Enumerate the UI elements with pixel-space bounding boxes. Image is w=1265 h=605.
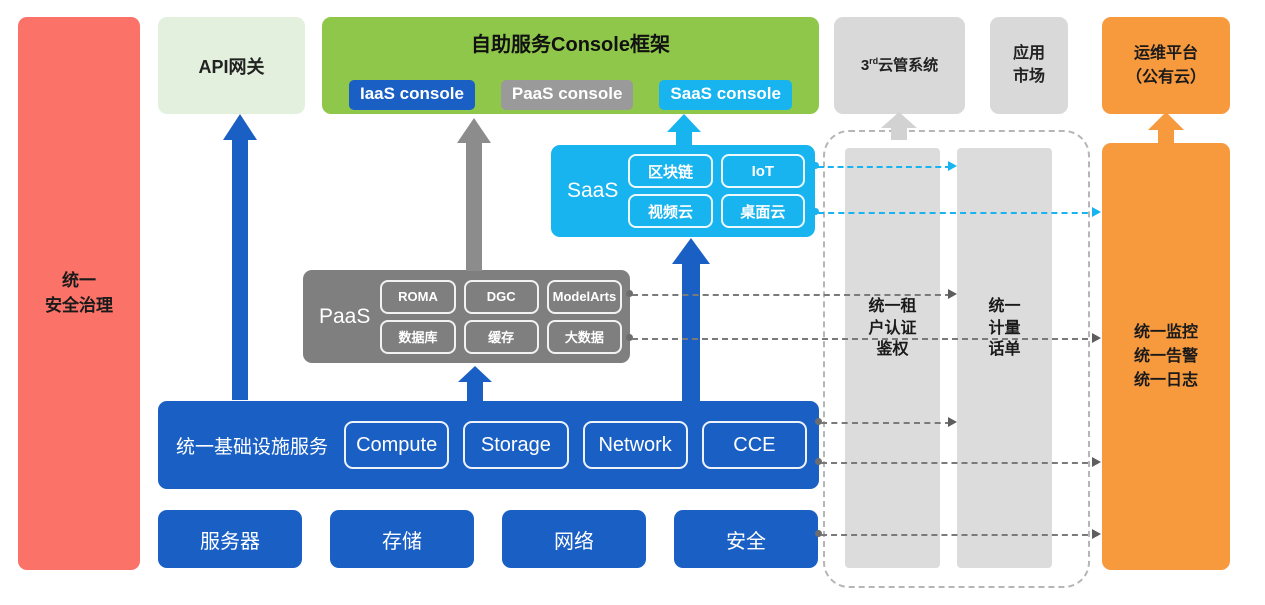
connector-arrowhead-iaas-1 [948, 417, 957, 427]
box-third-party-cloud-mgmt[interactable]: 3rd云管系统 [834, 17, 965, 114]
hardware-item-storage[interactable]: 存储 [330, 510, 474, 568]
chip-iaas-console[interactable]: IaaS console [349, 80, 475, 111]
saas-item-blockchain[interactable]: 区块链 [628, 154, 712, 188]
paas-item-dgc[interactable]: DGC [464, 280, 539, 314]
layer-saas: SaaS 区块链 IoT 视频云 桌面云 [551, 145, 815, 237]
console-chip-list: IaaS console PaaS console SaaS console [322, 79, 819, 111]
box-api-gateway-label: API网关 [198, 53, 264, 79]
paas-item-roma[interactable]: ROMA [380, 280, 455, 314]
hardware-item-security[interactable]: 安全 [674, 510, 818, 568]
iaas-service-list: Compute Storage Network CCE [334, 421, 807, 469]
layer-unified-infrastructure: 统一基础设施服务 Compute Storage Network CCE [158, 401, 819, 489]
layer-paas-label: PaaS [303, 305, 380, 329]
connector-saas-to-tenant-auth [818, 166, 951, 168]
box-self-service-console-frame: 自助服务Console框架 IaaS console PaaS console … [322, 17, 819, 114]
iaas-item-compute[interactable]: Compute [344, 421, 449, 469]
hardware-item-security-label: 安全 [726, 525, 766, 554]
box-app-market[interactable]: 应用市场 [990, 17, 1068, 114]
column-unified-tenant-auth-label: 统一租户认证鉴权 [845, 296, 940, 361]
panel-unified-monitoring: 统一监控统一告警统一日志 [1102, 143, 1230, 570]
hardware-item-server[interactable]: 服务器 [158, 510, 302, 568]
box-third-party-cloud-mgmt-label: 3rd云管系统 [861, 55, 938, 76]
arrow-iaas-to-saas [672, 238, 710, 402]
chip-saas-console[interactable]: SaaS console [659, 80, 792, 111]
connector-arrowhead-paas-2 [1092, 333, 1101, 343]
column-unified-tenant-auth: 统一租户认证鉴权 [845, 148, 940, 568]
console-frame-title: 自助服务Console框架 [322, 28, 819, 57]
layer-paas: PaaS ROMA DGC ModelArts 数据库 缓存 大数据 [303, 270, 630, 363]
arrow-saas-to-console [667, 114, 701, 146]
hardware-item-storage-label: 存储 [382, 525, 422, 554]
saas-item-iot[interactable]: IoT [721, 154, 805, 188]
column-unified-metering-billing-label: 统一计量话单 [957, 296, 1052, 361]
chip-paas-console[interactable]: PaaS console [501, 80, 634, 111]
box-app-market-label: 应用市场 [1013, 43, 1045, 88]
panel-unified-security-governance-label: 统一安全治理 [45, 269, 113, 318]
layer-saas-label: SaaS [551, 179, 628, 203]
connector-saas-to-ops-platform [818, 212, 1098, 214]
connector-arrowhead-hardware [1092, 529, 1101, 539]
connector-paas-to-tenant-auth [632, 294, 951, 296]
connector-arrowhead-saas-1 [948, 161, 957, 171]
connector-iaas-to-tenant-auth [821, 422, 951, 424]
paas-service-list: ROMA DGC ModelArts 数据库 缓存 大数据 [380, 272, 630, 362]
hardware-item-network[interactable]: 网络 [502, 510, 646, 568]
arrow-iaas-to-api-gateway [223, 114, 257, 400]
box-ops-platform-header-label: 运维平台（公有云） [1126, 42, 1206, 88]
panel-unified-security-governance: 统一安全治理 [18, 17, 140, 570]
paas-item-cache[interactable]: 缓存 [464, 320, 539, 354]
layer-unified-infrastructure-label: 统一基础设施服务 [170, 432, 334, 459]
iaas-item-storage[interactable]: Storage [463, 421, 568, 469]
connector-arrowhead-paas-1 [948, 289, 957, 299]
panel-unified-monitoring-label: 统一监控统一告警统一日志 [1134, 321, 1198, 393]
hardware-item-server-label: 服务器 [200, 525, 260, 554]
connector-hardware-to-ops-platform [821, 534, 1098, 536]
column-unified-metering-billing: 统一计量话单 [957, 148, 1052, 568]
connector-arrowhead-saas-2 [1092, 207, 1101, 217]
arrow-paas-to-console [457, 118, 491, 271]
architecture-diagram: 统一安全治理 API网关 自助服务Console框架 IaaS console … [0, 0, 1265, 605]
hardware-item-network-label: 网络 [554, 525, 594, 554]
arrow-iaas-to-paas [458, 366, 492, 402]
connector-paas-to-ops-platform [632, 338, 1098, 340]
saas-item-video-cloud[interactable]: 视频云 [628, 194, 712, 228]
iaas-item-network[interactable]: Network [583, 421, 688, 469]
box-api-gateway[interactable]: API网关 [158, 17, 305, 114]
paas-item-bigdata[interactable]: 大数据 [547, 320, 622, 354]
saas-item-desktop-cloud[interactable]: 桌面云 [721, 194, 805, 228]
paas-item-database[interactable]: 数据库 [380, 320, 455, 354]
box-ops-platform-header[interactable]: 运维平台（公有云） [1102, 17, 1230, 114]
connector-arrowhead-iaas-2 [1092, 457, 1101, 467]
paas-item-modelarts[interactable]: ModelArts [547, 280, 622, 314]
arrow-zone-to-ops-platform [1148, 112, 1184, 144]
connector-iaas-to-ops-platform [821, 462, 1098, 464]
iaas-item-cce[interactable]: CCE [702, 421, 807, 469]
saas-service-list: 区块链 IoT 视频云 桌面云 [628, 146, 815, 236]
